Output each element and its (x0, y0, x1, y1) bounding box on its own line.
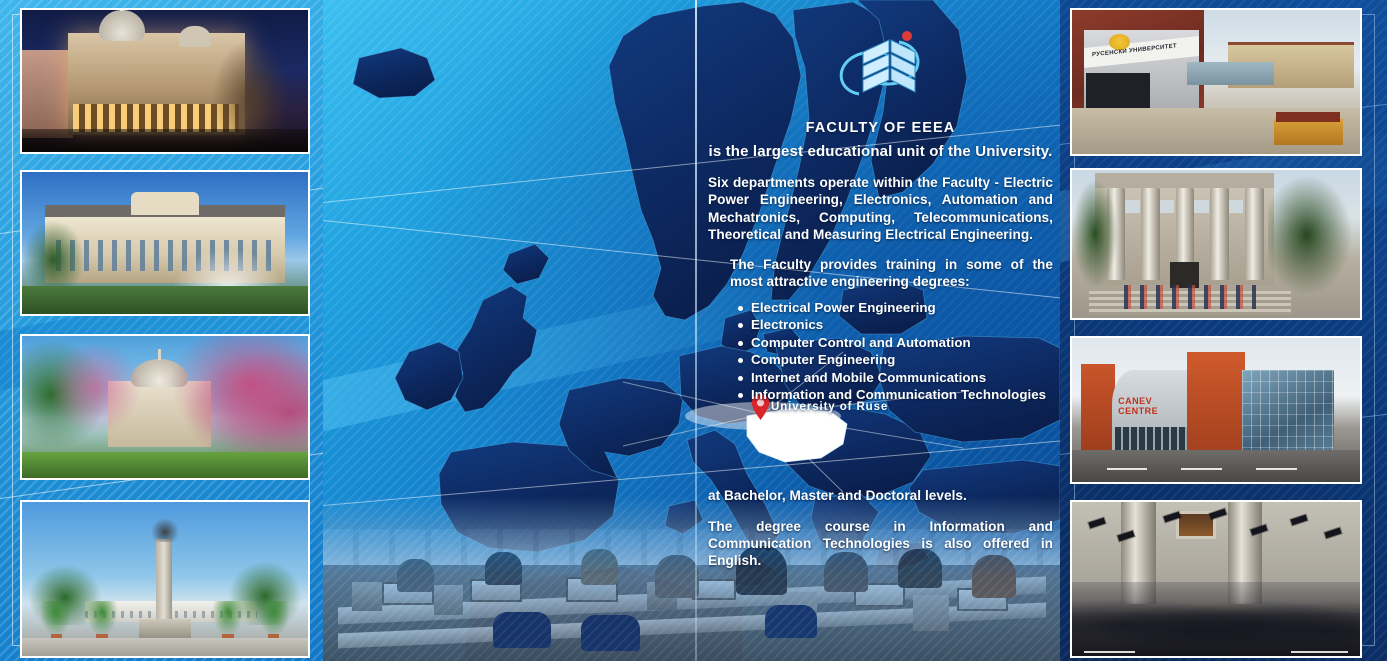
list-item: Computer Engineering (738, 351, 1053, 368)
degrees-intro: The Faculty provides training in some of… (730, 256, 1053, 290)
photo-court-house-spring-blossom: Court House in spring blossom (20, 334, 310, 480)
photo-monument-of-freedom-square: Monument of Freedom square (20, 500, 310, 658)
right-photo-column: РУСЕНСКИ УНИВЕРСИТЕТ РУСЕНСКИ УНИВЕРСИТЕ… (1060, 0, 1387, 661)
lede-text: is the largest educational unit of the U… (708, 143, 1053, 161)
map-spacer (708, 403, 1053, 487)
eeea-faculty-logo (708, 22, 1053, 118)
page-title: FACULTY OF EEEA (708, 120, 1053, 136)
photo-canev-centre: CANEV CENTRE CANEV CENTRE (1070, 336, 1362, 484)
list-item: Electronics (738, 316, 1053, 333)
faculty-text-panel: FACULTY OF EEEA is the largest education… (708, 22, 1053, 569)
photo-regional-museum-fountain: Regional Museum and fountain (20, 170, 310, 316)
english-note: The degree course in Information and Com… (708, 518, 1053, 569)
photo-ruse-city-centre-night: Ruse city centre at night (20, 8, 310, 154)
photo-university-main-entrance: РУСЕНСКИ УНИВЕРСИТЕТ РУСЕНСКИ УНИВЕРСИТЕ… (1070, 8, 1362, 156)
list-item: Computer Control and Automation (738, 334, 1053, 351)
levels-line: at Bachelor, Master and Doctoral levels. (708, 487, 1053, 504)
page-fold-line (695, 0, 697, 661)
list-item: Internet and Mobile Communications (738, 369, 1053, 386)
list-item: Information and Communication Technologi… (738, 386, 1053, 403)
list-item: Electrical Power Engineering (738, 299, 1053, 316)
left-photo-column: Ruse city centre at night Regional Museu… (0, 0, 323, 661)
departments-paragraph: Six departments operate within the Facul… (708, 174, 1053, 243)
map-panel: University of Ruse (323, 0, 1060, 661)
centre-building-sign: CANEV CENTRE (1118, 396, 1187, 410)
photo-faculty-building-columns: Faculty building with columns (1070, 168, 1362, 320)
degrees-list: Electrical Power Engineering Electronics… (738, 299, 1053, 403)
photo-graduation-ceremony: Graduation ceremony (1070, 500, 1362, 658)
brochure-page: Ruse city centre at night Regional Museu… (0, 0, 1387, 661)
